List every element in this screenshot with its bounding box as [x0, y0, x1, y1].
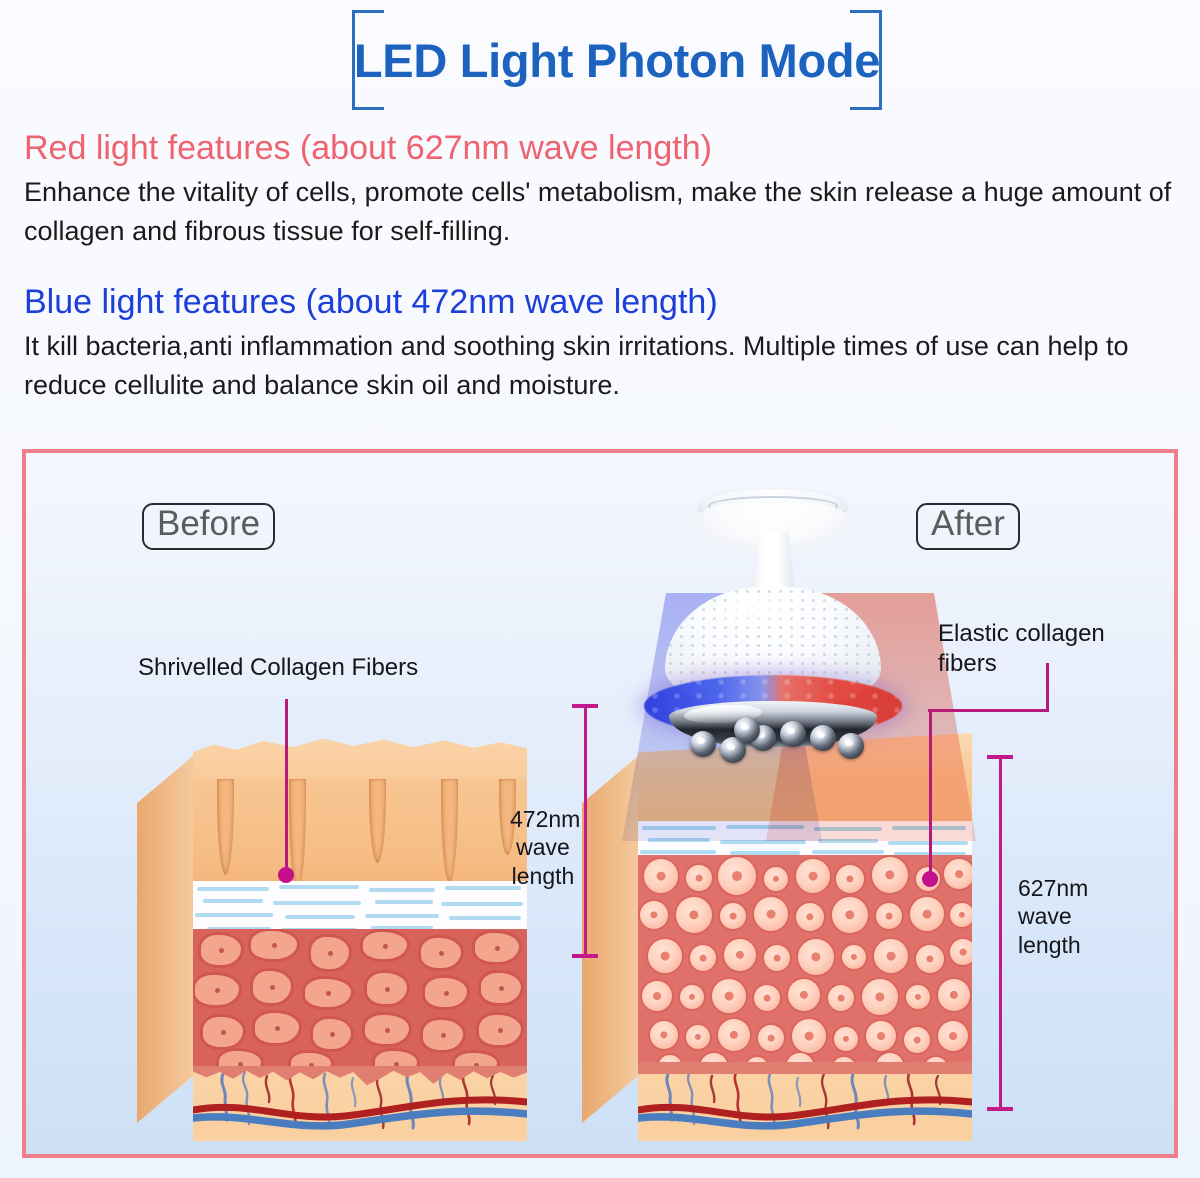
blood-vessels-after — [638, 1066, 972, 1141]
label-before: Before — [142, 503, 275, 550]
bracket-label-472nm-line3: length — [510, 862, 576, 890]
annotation-shrivelled-collagen-fibers: Shrivelled Collagen Fibers — [138, 653, 418, 683]
skin-cross-section-after — [582, 731, 972, 1141]
infographic-page: LED Light Photon Mode Red light features… — [0, 0, 1200, 1178]
title-block: LED Light Photon Mode — [352, 10, 882, 110]
bracket-cap-bottom — [572, 954, 598, 958]
bracket-label-472nm-line1: 472nm — [510, 805, 576, 833]
bracket-label-627nm-line3: length — [1018, 931, 1090, 959]
hypodermis-layer-before — [193, 1066, 527, 1141]
feature-blue-light-heading: Blue light features (about 472nm wave le… — [24, 282, 1184, 323]
feature-blue-light-body: It kill bacteria,anti inflammation and s… — [24, 327, 1172, 404]
illustration-panel: Before After Shrivelled Collagen Fibers … — [22, 449, 1178, 1158]
feature-red-light: Red light features (about 627nm wave len… — [24, 128, 1184, 251]
pointer-elbow-horizontal-after — [928, 709, 1049, 712]
device-dome-gloss — [713, 594, 812, 634]
epidermis-layer-before — [193, 779, 527, 897]
dermis-elastic-collagen — [638, 855, 972, 1077]
feature-blue-light: Blue light features (about 472nm wave le… — [24, 282, 1184, 405]
label-after: After — [916, 503, 1020, 550]
bracket-cap-bottom — [987, 1107, 1013, 1111]
led-photon-massager-device — [638, 489, 908, 749]
massage-ball — [780, 721, 806, 747]
bracket-627nm-depth — [987, 755, 1013, 1111]
bracket-stem — [584, 704, 587, 958]
dermis-shrivelled-collagen — [193, 929, 527, 1077]
bracket-label-627nm-line1: 627nm — [1018, 874, 1090, 902]
bracket-stem — [999, 755, 1002, 1111]
skin-side-face-before — [137, 751, 199, 1123]
annotation-elastic-collagen-fibers: Elastic collagen fibers — [938, 619, 1138, 679]
pointer-dot-after — [922, 871, 938, 887]
pointer-line-before — [285, 699, 288, 871]
hypodermis-layer-after — [638, 1066, 972, 1141]
epidermis-layer-after — [638, 769, 972, 827]
skin-cross-section-before — [137, 731, 527, 1141]
massage-ball — [690, 731, 716, 757]
pointer-elbow-vertical-after — [1046, 663, 1049, 711]
pointer-line-after — [929, 709, 932, 879]
bracket-label-627nm: 627nm wave length — [1018, 874, 1090, 959]
device-led-head — [644, 675, 902, 769]
bracket-label-472nm-line2: wave — [510, 833, 576, 861]
massage-ball — [734, 717, 760, 743]
bracket-label-472nm: 472nm wave length — [510, 805, 576, 890]
bracket-label-627nm-line2: wave — [1018, 902, 1090, 930]
feature-red-light-heading: Red light features (about 627nm wave len… — [24, 128, 1184, 169]
pointer-dot-before — [278, 867, 294, 883]
massage-ball — [810, 725, 836, 751]
page-title: LED Light Photon Mode — [352, 10, 882, 110]
feature-red-light-body: Enhance the vitality of cells, promote c… — [24, 173, 1172, 250]
massage-ball — [838, 733, 864, 759]
dermis-boundary-after — [638, 1062, 972, 1074]
